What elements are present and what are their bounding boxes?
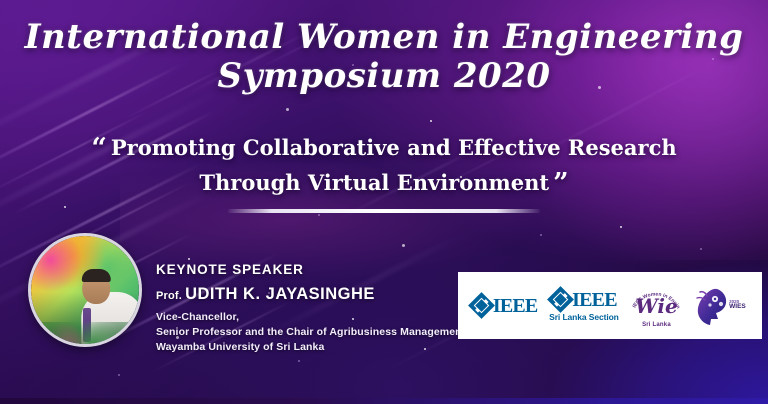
wie-mark: IEEE Women in Engineering Wie Sri Lanka	[630, 282, 682, 330]
wie-region-label: Sri Lanka	[630, 322, 682, 328]
symposium-poster: International Women in Engineering Sympo…	[0, 0, 768, 404]
speaker-name-row: Prof.UDITH K. JAYASINGHE	[156, 285, 456, 304]
wies-logo: 2020 WIES	[694, 284, 748, 328]
title-line-2: Symposium 2020	[0, 59, 768, 95]
ieee-logo: IEEE	[472, 296, 538, 316]
affiliation-line-2: Senior Professor and the Chair of Agribu…	[156, 325, 456, 340]
ieee-lockup: IEEE	[472, 296, 538, 316]
quote-line-1: “Promoting Collaborative and Effective R…	[0, 132, 768, 167]
affiliation-line-1: Vice-Chancellor,	[156, 310, 456, 325]
speaker-name-prefix: Prof.	[156, 290, 182, 302]
wies-wordmark: WIES	[729, 303, 746, 310]
wies-mark: 2020 WIES	[694, 284, 748, 328]
wie-sri-lanka-logo: IEEE Women in Engineering Wie Sri Lanka	[630, 282, 682, 330]
ieee-sri-lanka-section-logo: IEEE Sri Lanka Section	[549, 290, 619, 322]
ieee-diamond-icon	[547, 286, 574, 313]
close-quote-icon: ”	[553, 168, 569, 199]
poster-theme-quote: “Promoting Collaborative and Effective R…	[0, 132, 768, 213]
quote-underline-rule	[228, 209, 540, 213]
speaker-photo	[28, 233, 142, 347]
wies-head-silhouette-icon	[694, 286, 728, 326]
photo-foreground-plants	[31, 322, 139, 344]
quote-line-2: Through Virtual Environment”	[0, 167, 768, 202]
speaker-photo-inner	[31, 236, 139, 344]
quote-text-2: Through Virtual Environment	[199, 170, 549, 195]
affiliation-line-3: Wayamba University of Sri Lanka	[156, 340, 456, 355]
open-quote-icon: “	[91, 133, 107, 164]
sponsor-logo-panel: IEEE IEEE Sri Lanka Section IEEE Women i…	[458, 272, 762, 339]
ieee-sl-wordmark: IEEE	[572, 290, 617, 310]
title-line-1: International Women in Engineering	[0, 20, 768, 56]
speaker-affiliation: Vice-Chancellor, Senior Professor and th…	[156, 310, 456, 355]
ieee-wordmark: IEEE	[493, 296, 538, 316]
footer-strip	[0, 398, 768, 404]
keynote-speaker-kicker: KEYNOTE SPEAKER	[156, 262, 456, 277]
photo-speaker-hair	[82, 269, 111, 282]
wie-monogram: Wie	[630, 296, 682, 316]
poster-title: International Women in Engineering Sympo…	[0, 20, 768, 94]
speaker-details: KEYNOTE SPEAKER Prof.UDITH K. JAYASINGHE…	[156, 262, 456, 355]
ieee-diamond-icon	[468, 292, 495, 319]
quote-text-1: Promoting Collaborative and Effective Re…	[111, 135, 677, 160]
wies-wordmark-group: 2020 WIES	[729, 300, 746, 312]
ieee-sl-lockup: IEEE	[551, 290, 617, 310]
speaker-name: UDITH K. JAYASINGHE	[185, 285, 375, 303]
